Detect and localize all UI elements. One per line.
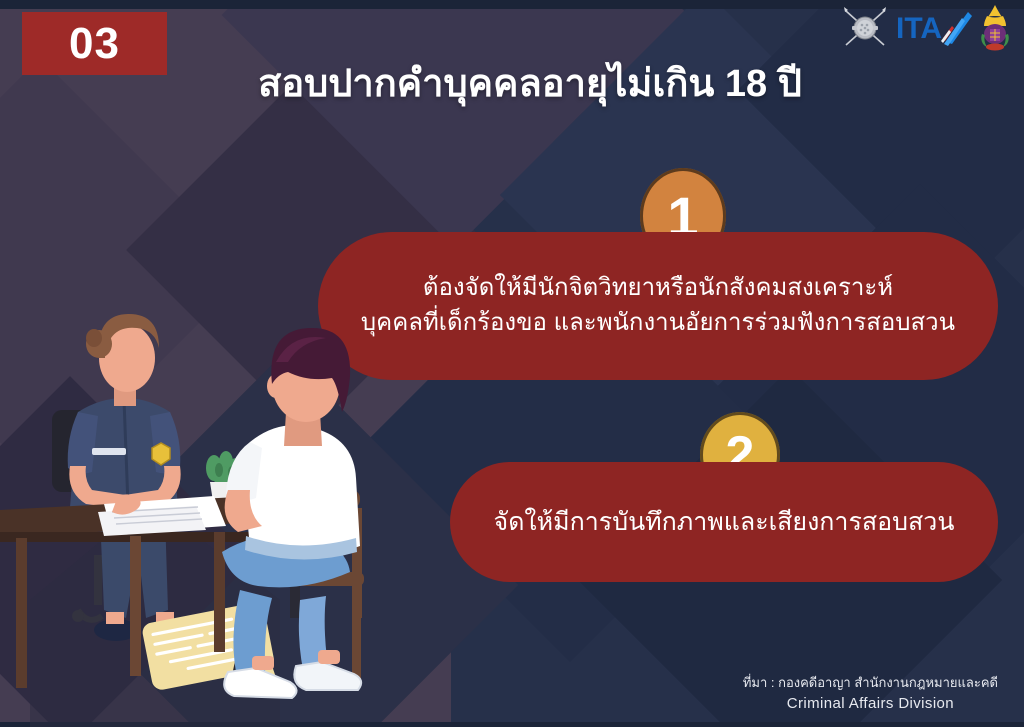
step-card-1: ต้องจัดให้มีนักจิตวิทยาหรือนักสังคมสงเคร… <box>318 232 998 380</box>
police-interview-illustration <box>0 300 400 727</box>
footer-source: ที่มา : กองคดีอาญา สำนักงานกฎหมายและคดี … <box>743 673 998 715</box>
logo-group: ITA <box>840 4 1012 52</box>
step-card-1-line-2: บุคคลที่เด็กร้องขอ และพนักงานอัยการร่วมฟ… <box>361 306 955 341</box>
section-number-badge: 03 <box>22 12 167 75</box>
youth-interviewee <box>222 328 361 698</box>
step-card-1-text: ต้องจัดให้มีนักจิตวิทยาหรือนักสังคมสงเคร… <box>335 271 981 341</box>
step-card-2-line-1: จัดให้มีการบันทึกภาพและเสียงการสอบสวน <box>494 504 955 540</box>
infographic-poster: 03 สอบปากคำบุคคลอายุไม่เกิน 18 ปี ITA <box>0 0 1024 727</box>
step-card-2: จัดให้มีการบันทึกภาพและเสียงการสอบสวน <box>450 462 998 582</box>
page-title: สอบปากคำบุคคลอายุไม่เกิน 18 ปี <box>180 52 880 113</box>
footer-source-th: ที่มา : กองคดีอาญา สำนักงานกฎหมายและคดี <box>743 673 998 693</box>
royal-crest-icon <box>978 4 1012 52</box>
section-number-label: 03 <box>69 22 120 66</box>
step-card-1-line-1: ต้องจัดให้มีนักจิตวิทยาหรือนักสังคมสงเคร… <box>361 271 955 306</box>
svg-text:ITA: ITA <box>896 12 942 45</box>
royal-thai-police-emblem-icon <box>840 5 890 51</box>
footer-source-en: Criminal Affairs Division <box>743 693 998 716</box>
ita-logo-icon: ITA <box>896 8 972 48</box>
step-card-2-text: จัดให้มีการบันทึกภาพและเสียงการสอบสวน <box>468 504 981 540</box>
